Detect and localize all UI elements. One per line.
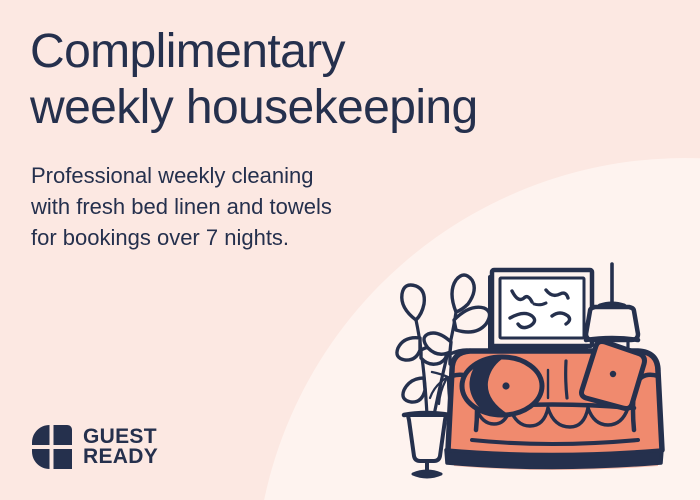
coral-sofa-icon	[446, 342, 662, 471]
subcopy-line-1: Professional weekly cleaning	[31, 160, 461, 191]
page-title: Complimentary weekly housekeeping	[30, 24, 650, 136]
brand-wordmark: GUEST READY	[83, 427, 158, 467]
subtitle-text: Professional weekly cleaning with fresh …	[31, 160, 461, 254]
banner-content: Complimentary weekly housekeeping Profes…	[0, 0, 700, 500]
subcopy-line-3: for bookings over 7 nights.	[31, 222, 461, 253]
headline-line-1: Complimentary	[30, 24, 650, 80]
round-cushion-icon	[462, 357, 542, 415]
subcopy-line-2: with fresh bed linen and towels	[31, 191, 461, 222]
promo-banner: Complimentary weekly housekeeping Profes…	[0, 0, 700, 500]
living-room-illustration	[390, 258, 700, 500]
headline-line-2: weekly housekeeping	[30, 80, 650, 136]
brand-word-line-1: GUEST	[83, 427, 158, 447]
guestready-mark-icon	[31, 424, 73, 470]
brand-logo: GUEST READY	[31, 424, 158, 470]
brand-word-line-2: READY	[83, 447, 158, 467]
living-room-scene-icon	[390, 258, 700, 500]
framed-wall-art-icon	[488, 270, 592, 351]
